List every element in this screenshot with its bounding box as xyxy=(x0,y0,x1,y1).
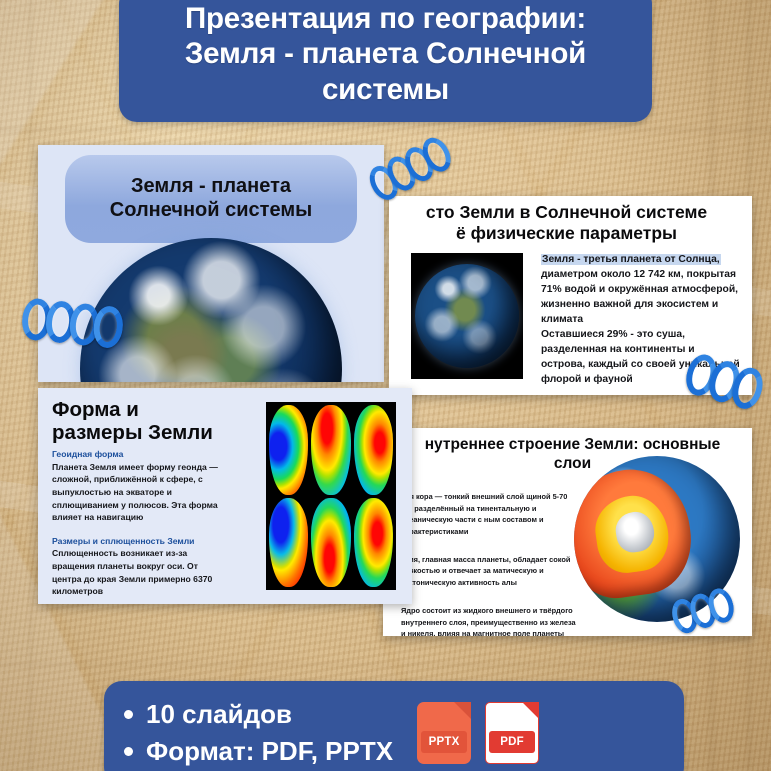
pptx-file-icon: PPTX xyxy=(417,702,471,764)
geoid-shape xyxy=(354,405,393,495)
pptx-icon-label: PPTX xyxy=(421,731,467,753)
slide2-earth-image xyxy=(411,253,523,379)
footer-bullet-item: 10 слайдов xyxy=(124,696,393,733)
bullet-dot-icon xyxy=(124,747,133,756)
slide4-paragraph-3: Ядро состоит из жидкого внешнего и твёрд… xyxy=(401,605,577,636)
format-label: Формат: PDF, PPTX xyxy=(146,733,393,770)
footer-bullet-list: 10 слайдов Формат: PDF, PPTX xyxy=(124,696,393,770)
geoid-shape xyxy=(354,498,393,588)
slide-thumbnail-3[interactable]: Форма и размеры Земли Геоидная форма Пла… xyxy=(38,388,412,604)
geoid-shape xyxy=(269,498,308,588)
slide-thumbnail-1[interactable]: Земля - планета Солнечной системы xyxy=(38,145,384,382)
geoid-models-image xyxy=(266,402,396,590)
slide-count-label: 10 слайдов xyxy=(146,696,292,733)
slide4-paragraph-1: ная кора — тонкий внешний слой щиной 5-7… xyxy=(401,491,577,538)
file-format-icons: PPTX PDF xyxy=(417,702,539,764)
slide3-body-text: Геоидная форма Планета Земля имеет форму… xyxy=(52,448,228,598)
page-title: Презентация по географии: Земля - планет… xyxy=(171,1,600,107)
slide3-heading-1: Геоидная форма xyxy=(52,448,228,461)
presentation-preview-canvas: Земля - планета Солнечной системы сто Зе… xyxy=(0,0,771,771)
slide4-body-text: ная кора — тонкий внешний слой щиной 5-7… xyxy=(401,491,577,636)
header-banner: Презентация по географии: Земля - планет… xyxy=(119,0,652,122)
geoid-shape xyxy=(311,498,350,588)
slide2-paragraph-1-rest: диаметром около 12 742 км, покрытая 71% … xyxy=(541,269,738,325)
slide3-heading-2: Размеры и сплющенность Земли xyxy=(52,535,228,548)
footer-bullet-item: Формат: PDF, PPTX xyxy=(124,733,393,770)
geoid-shape xyxy=(269,405,308,495)
pdf-icon-label: PDF xyxy=(489,731,535,753)
slide4-paragraph-2: нтия, главная масса планеты, обладает со… xyxy=(401,554,577,589)
slide2-title: сто Земли в Солнечной системе ё физическ… xyxy=(389,202,744,243)
slide2-highlighted-phrase: Земля - третья планета от Солнца, xyxy=(541,254,721,265)
bullet-dot-icon xyxy=(124,710,133,719)
slide1-title-box: Земля - планета Солнечной системы xyxy=(65,155,357,243)
slide3-paragraph-1: Планета Земля имеет форму геонда — сложн… xyxy=(52,461,228,524)
slide3-paragraph-2: Сплющенность возникает из-за вращения пл… xyxy=(52,547,228,598)
geoid-shape xyxy=(311,405,350,495)
footer-banner: 10 слайдов Формат: PDF, PPTX PPTX PDF xyxy=(104,681,684,771)
slide3-title: Форма и размеры Земли xyxy=(52,398,213,445)
slide1-title: Земля - планета Солнечной системы xyxy=(110,175,312,222)
pdf-file-icon: PDF xyxy=(485,702,539,764)
earth-globe-icon xyxy=(415,264,519,368)
